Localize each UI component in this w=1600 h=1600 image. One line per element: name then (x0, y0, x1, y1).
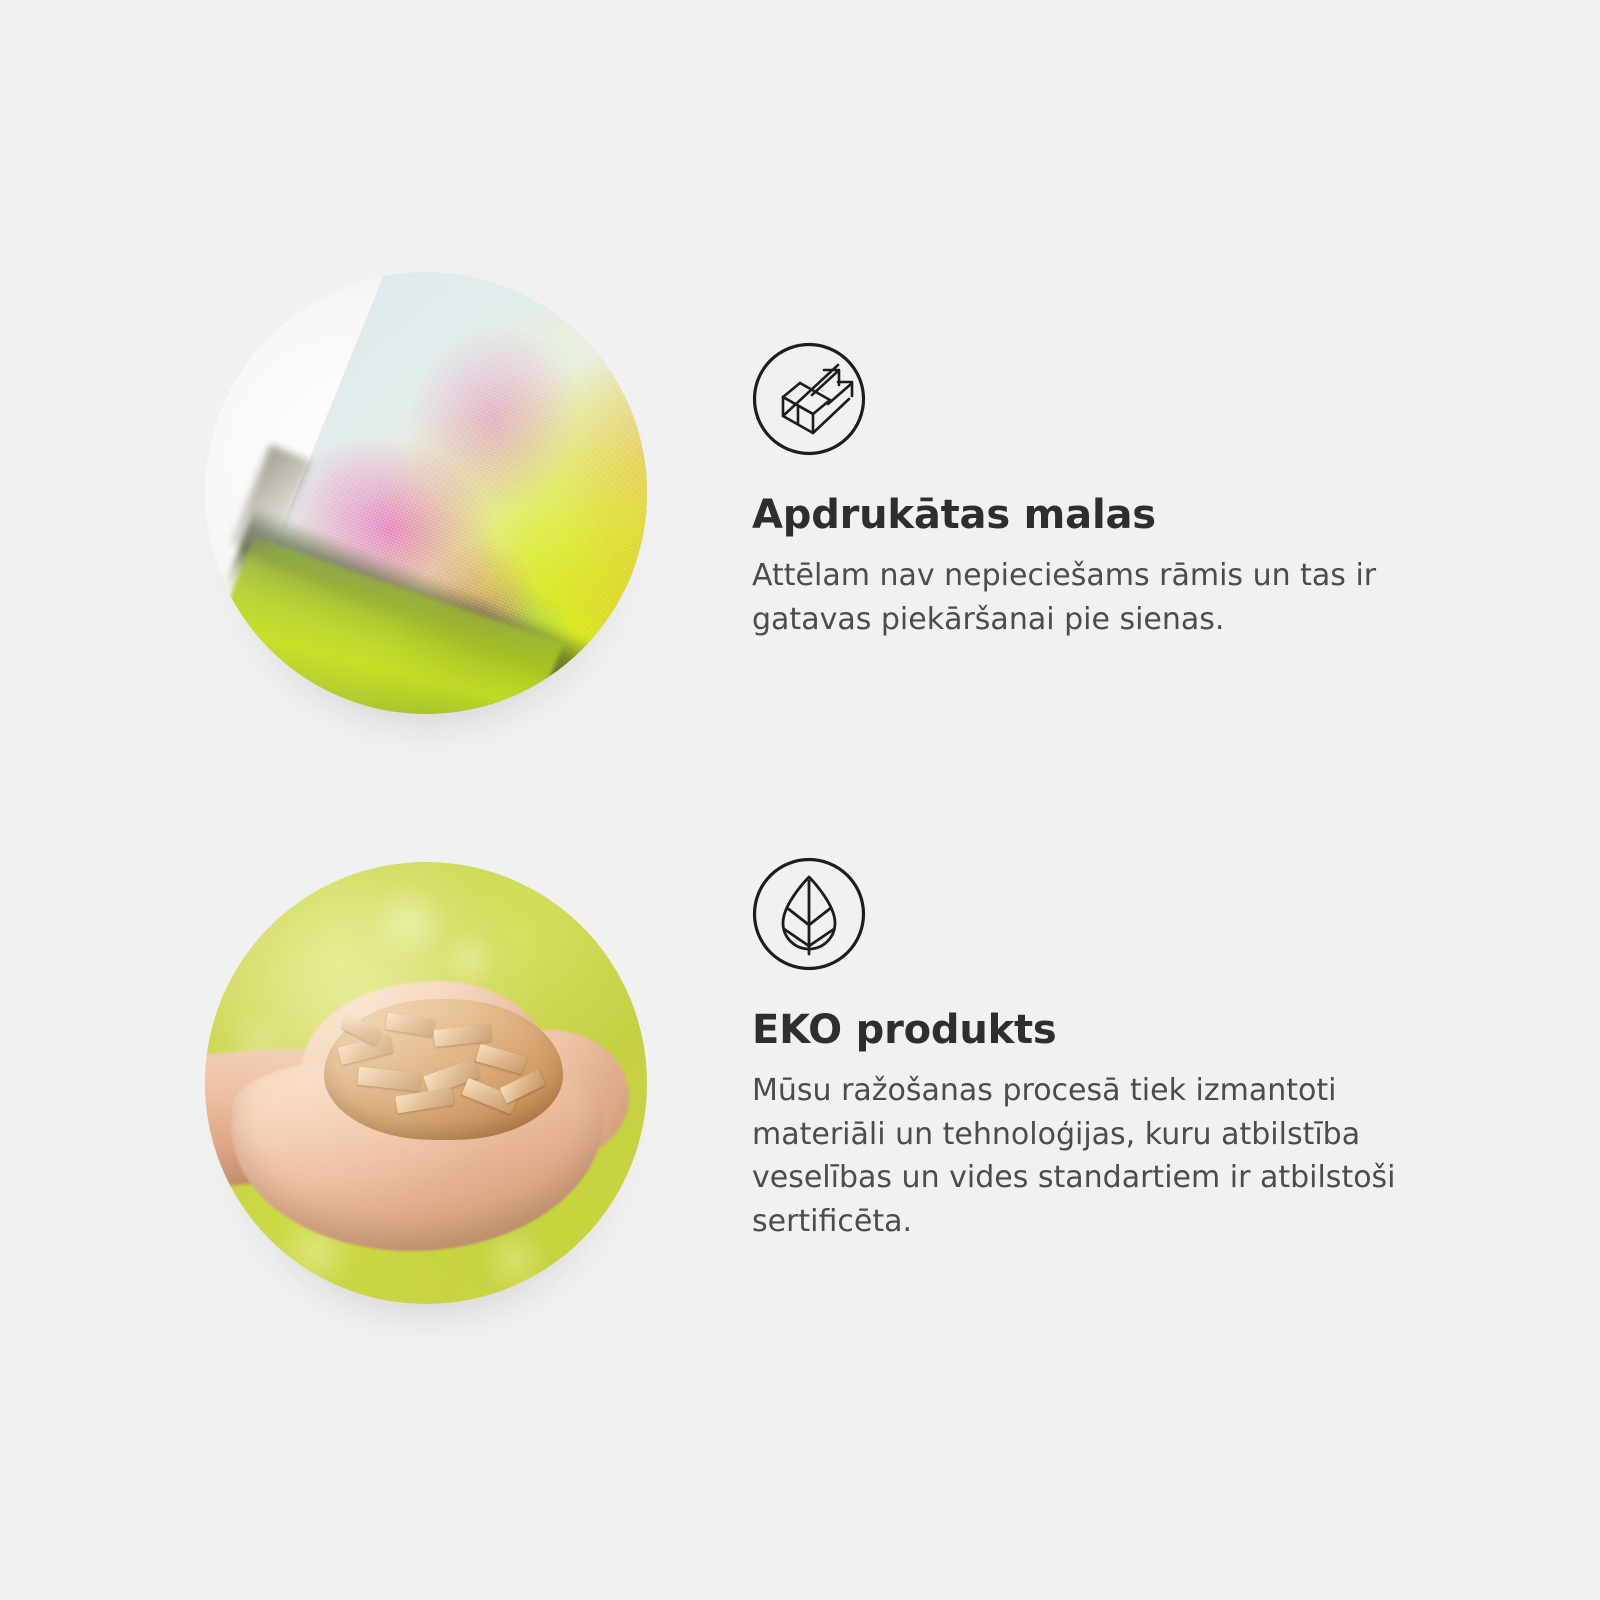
feature-content-eco-product: EKO produkts Mūsu ražošanas procesā tiek… (752, 857, 1492, 1243)
feature-title: Apdrukātas malas (752, 492, 1492, 538)
photo-sun-glow (205, 862, 647, 1304)
feature-description: Mūsu ražošanas procesā tiek izmantoti ma… (752, 1069, 1472, 1243)
feature-title: EKO produkts (752, 1007, 1492, 1053)
printed-edge-canvas-photo (205, 272, 647, 714)
woodchips-photo (205, 862, 647, 1304)
eco-leaf-icon (752, 857, 866, 971)
feature-content-printed-edges: Apdrukātas malas Attēlam nav nepieciešam… (752, 342, 1492, 641)
media-circle-mask (205, 272, 647, 714)
feature-block-printed-edges: Apdrukātas malas Attēlam nav nepieciešam… (0, 260, 1600, 730)
media-circle-mask (205, 862, 647, 1304)
feature-panel: Apdrukātas malas Attēlam nav nepieciešam… (0, 0, 1600, 1600)
feature-description: Attēlam nav nepieciešams rāmis un tas ir… (752, 554, 1472, 641)
feature-block-eco-product: EKO produkts Mūsu ražošanas procesā tiek… (0, 850, 1600, 1320)
printed-edges-icon (752, 342, 866, 456)
canvas-print-photo (205, 272, 647, 714)
eco-woodchips-photo (205, 862, 647, 1304)
